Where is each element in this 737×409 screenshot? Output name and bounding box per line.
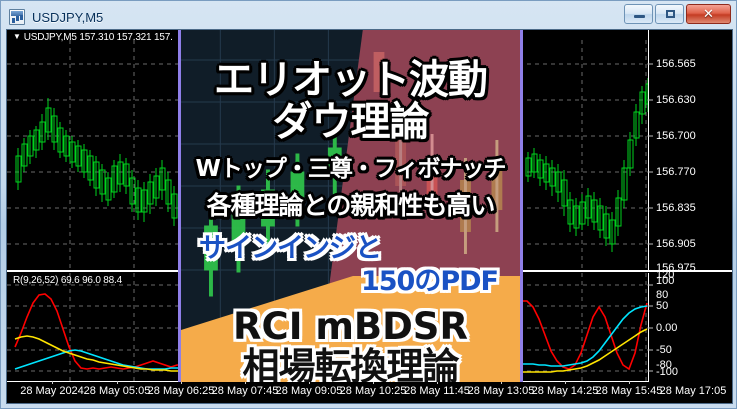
application-window: USDJPY,M5 ✕ <box>0 0 737 409</box>
maximize-button[interactable] <box>655 4 684 24</box>
close-icon: ✕ <box>687 5 730 23</box>
minimize-button[interactable] <box>624 4 653 24</box>
time-label: 28 May 10:25 <box>340 385 407 397</box>
overlay-sub-line1: Wトップ・三尊・フィボナッチ <box>181 158 520 181</box>
close-button[interactable]: ✕ <box>686 4 731 24</box>
overlay-title-line2: ダウ理論 <box>181 102 520 142</box>
overlay-sub-line2: 各種理論との親和性も高い <box>181 193 520 218</box>
time-label: 28 May 13:05 <box>468 385 535 397</box>
time-label: 28 May 15:45 <box>596 385 663 397</box>
time-label: 28 May 2024 <box>20 385 84 397</box>
indicator-tick: 100 <box>656 275 674 287</box>
time-label: 28 May 14:25 <box>532 385 599 397</box>
price-tick: 156.700 <box>656 130 696 142</box>
indicator-tick: 50 <box>656 300 668 312</box>
indicator-header: R(9,26,52) 69.6 96.0 88.4 <box>13 275 122 286</box>
indicator-scale[interactable]: 120 100 80 50 0.00 -50 -80 -100 <box>648 273 733 382</box>
overlay-cyan-line1: サインインジと <box>181 235 520 262</box>
overlay-bottom-line1: RCI mBDSR <box>181 308 520 345</box>
indicator-tick: 0.00 <box>656 322 677 334</box>
price-tick: 156.835 <box>656 202 696 214</box>
window-title: USDJPY,M5 <box>32 10 103 25</box>
overlay-title-line1: エリオット波動 <box>181 60 520 100</box>
price-tick: 156.770 <box>656 166 696 178</box>
chart-client-area[interactable]: ▼USDJPY,M5 157.310 157.321 157. 156.565 … <box>6 29 733 404</box>
minimize-icon <box>634 15 645 18</box>
price-scale-border <box>648 30 649 270</box>
price-tick: 156.905 <box>656 238 696 250</box>
window-controls: ✕ <box>624 4 731 24</box>
title-bar: USDJPY,M5 ✕ <box>6 5 731 29</box>
promo-overlay[interactable]: エリオット波動 ダウ理論 Wトップ・三尊・フィボナッチ 各種理論との親和性も高い… <box>178 30 523 382</box>
maximize-icon <box>666 10 675 18</box>
time-label: 28 May 07:45 <box>212 385 279 397</box>
price-tick: 156.630 <box>656 94 696 106</box>
time-label: 28 May 06:25 <box>148 385 215 397</box>
collapse-triangle-icon[interactable]: ▼ <box>13 32 21 41</box>
price-scale[interactable]: 156.565 156.630 156.700 156.770 156.835 … <box>648 30 733 270</box>
overlay-cyan-line2: 150のPDF <box>181 268 520 295</box>
indicator-tick: -100 <box>656 366 678 378</box>
time-label: 28 May 17:05 <box>660 385 727 397</box>
time-label: 28 May 11:45 <box>404 385 470 397</box>
indicator-tick: -50 <box>656 344 672 356</box>
time-axis[interactable]: 28 May 2024 28 May 05:05 28 May 06:25 28… <box>7 381 733 403</box>
price-tick: 156.565 <box>656 58 696 70</box>
symbol-header-text: USDJPY,M5 157.310 157.321 157. <box>24 32 173 43</box>
symbol-header: ▼USDJPY,M5 157.310 157.321 157. <box>13 32 173 43</box>
chart-document-icon <box>9 9 25 25</box>
overlay-bottom-line2: 相場転換理論 <box>181 348 520 382</box>
time-label: 28 May 09:05 <box>276 385 343 397</box>
time-label: 28 May 05:05 <box>84 385 151 397</box>
